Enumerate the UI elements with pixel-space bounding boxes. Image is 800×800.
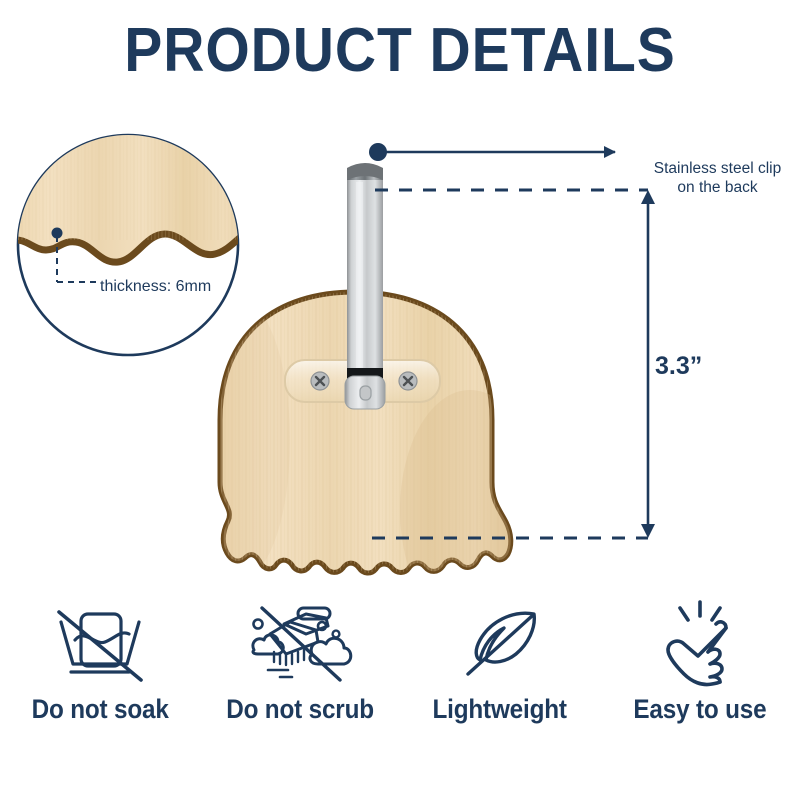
feature-list: Do not soak	[0, 598, 800, 758]
height-dimension-label: 3.3”	[655, 352, 702, 381]
page-title: PRODUCT DETAILS	[32, 18, 768, 83]
clip-marker-dot	[369, 143, 387, 161]
screw-left	[311, 372, 329, 390]
feature-label-easy-to-use: Easy to use	[633, 694, 766, 725]
feature-label-do-not-scrub: Do not scrub	[226, 694, 374, 725]
feature-do-not-scrub: Do not scrub	[200, 598, 400, 725]
no-soak-icon	[45, 598, 155, 690]
clip-callout-line-2: on the back	[640, 179, 795, 198]
feature-do-not-soak: Do not soak	[0, 598, 200, 725]
feather-icon	[450, 598, 550, 690]
tap-hand-icon	[650, 598, 750, 690]
feature-easy-to-use: Easy to use	[600, 598, 800, 725]
clip-callout-arrow	[369, 143, 616, 161]
clip-callout-label: Stainless steel clip on the back	[640, 160, 795, 198]
thickness-label: thickness: 6mm	[100, 278, 211, 296]
screw-right	[399, 372, 417, 390]
feature-lightweight: Lightweight	[400, 598, 600, 725]
stainless-steel-clip	[345, 163, 385, 409]
no-scrub-icon	[240, 598, 360, 690]
clip-callout-line-1: Stainless steel clip	[640, 160, 795, 179]
feature-label-lightweight: Lightweight	[433, 694, 567, 725]
height-dimension-arrow	[641, 190, 655, 538]
feature-label-do-not-soak: Do not soak	[31, 694, 168, 725]
infographic-canvas: PRODUCT DETAILS	[0, 0, 800, 800]
